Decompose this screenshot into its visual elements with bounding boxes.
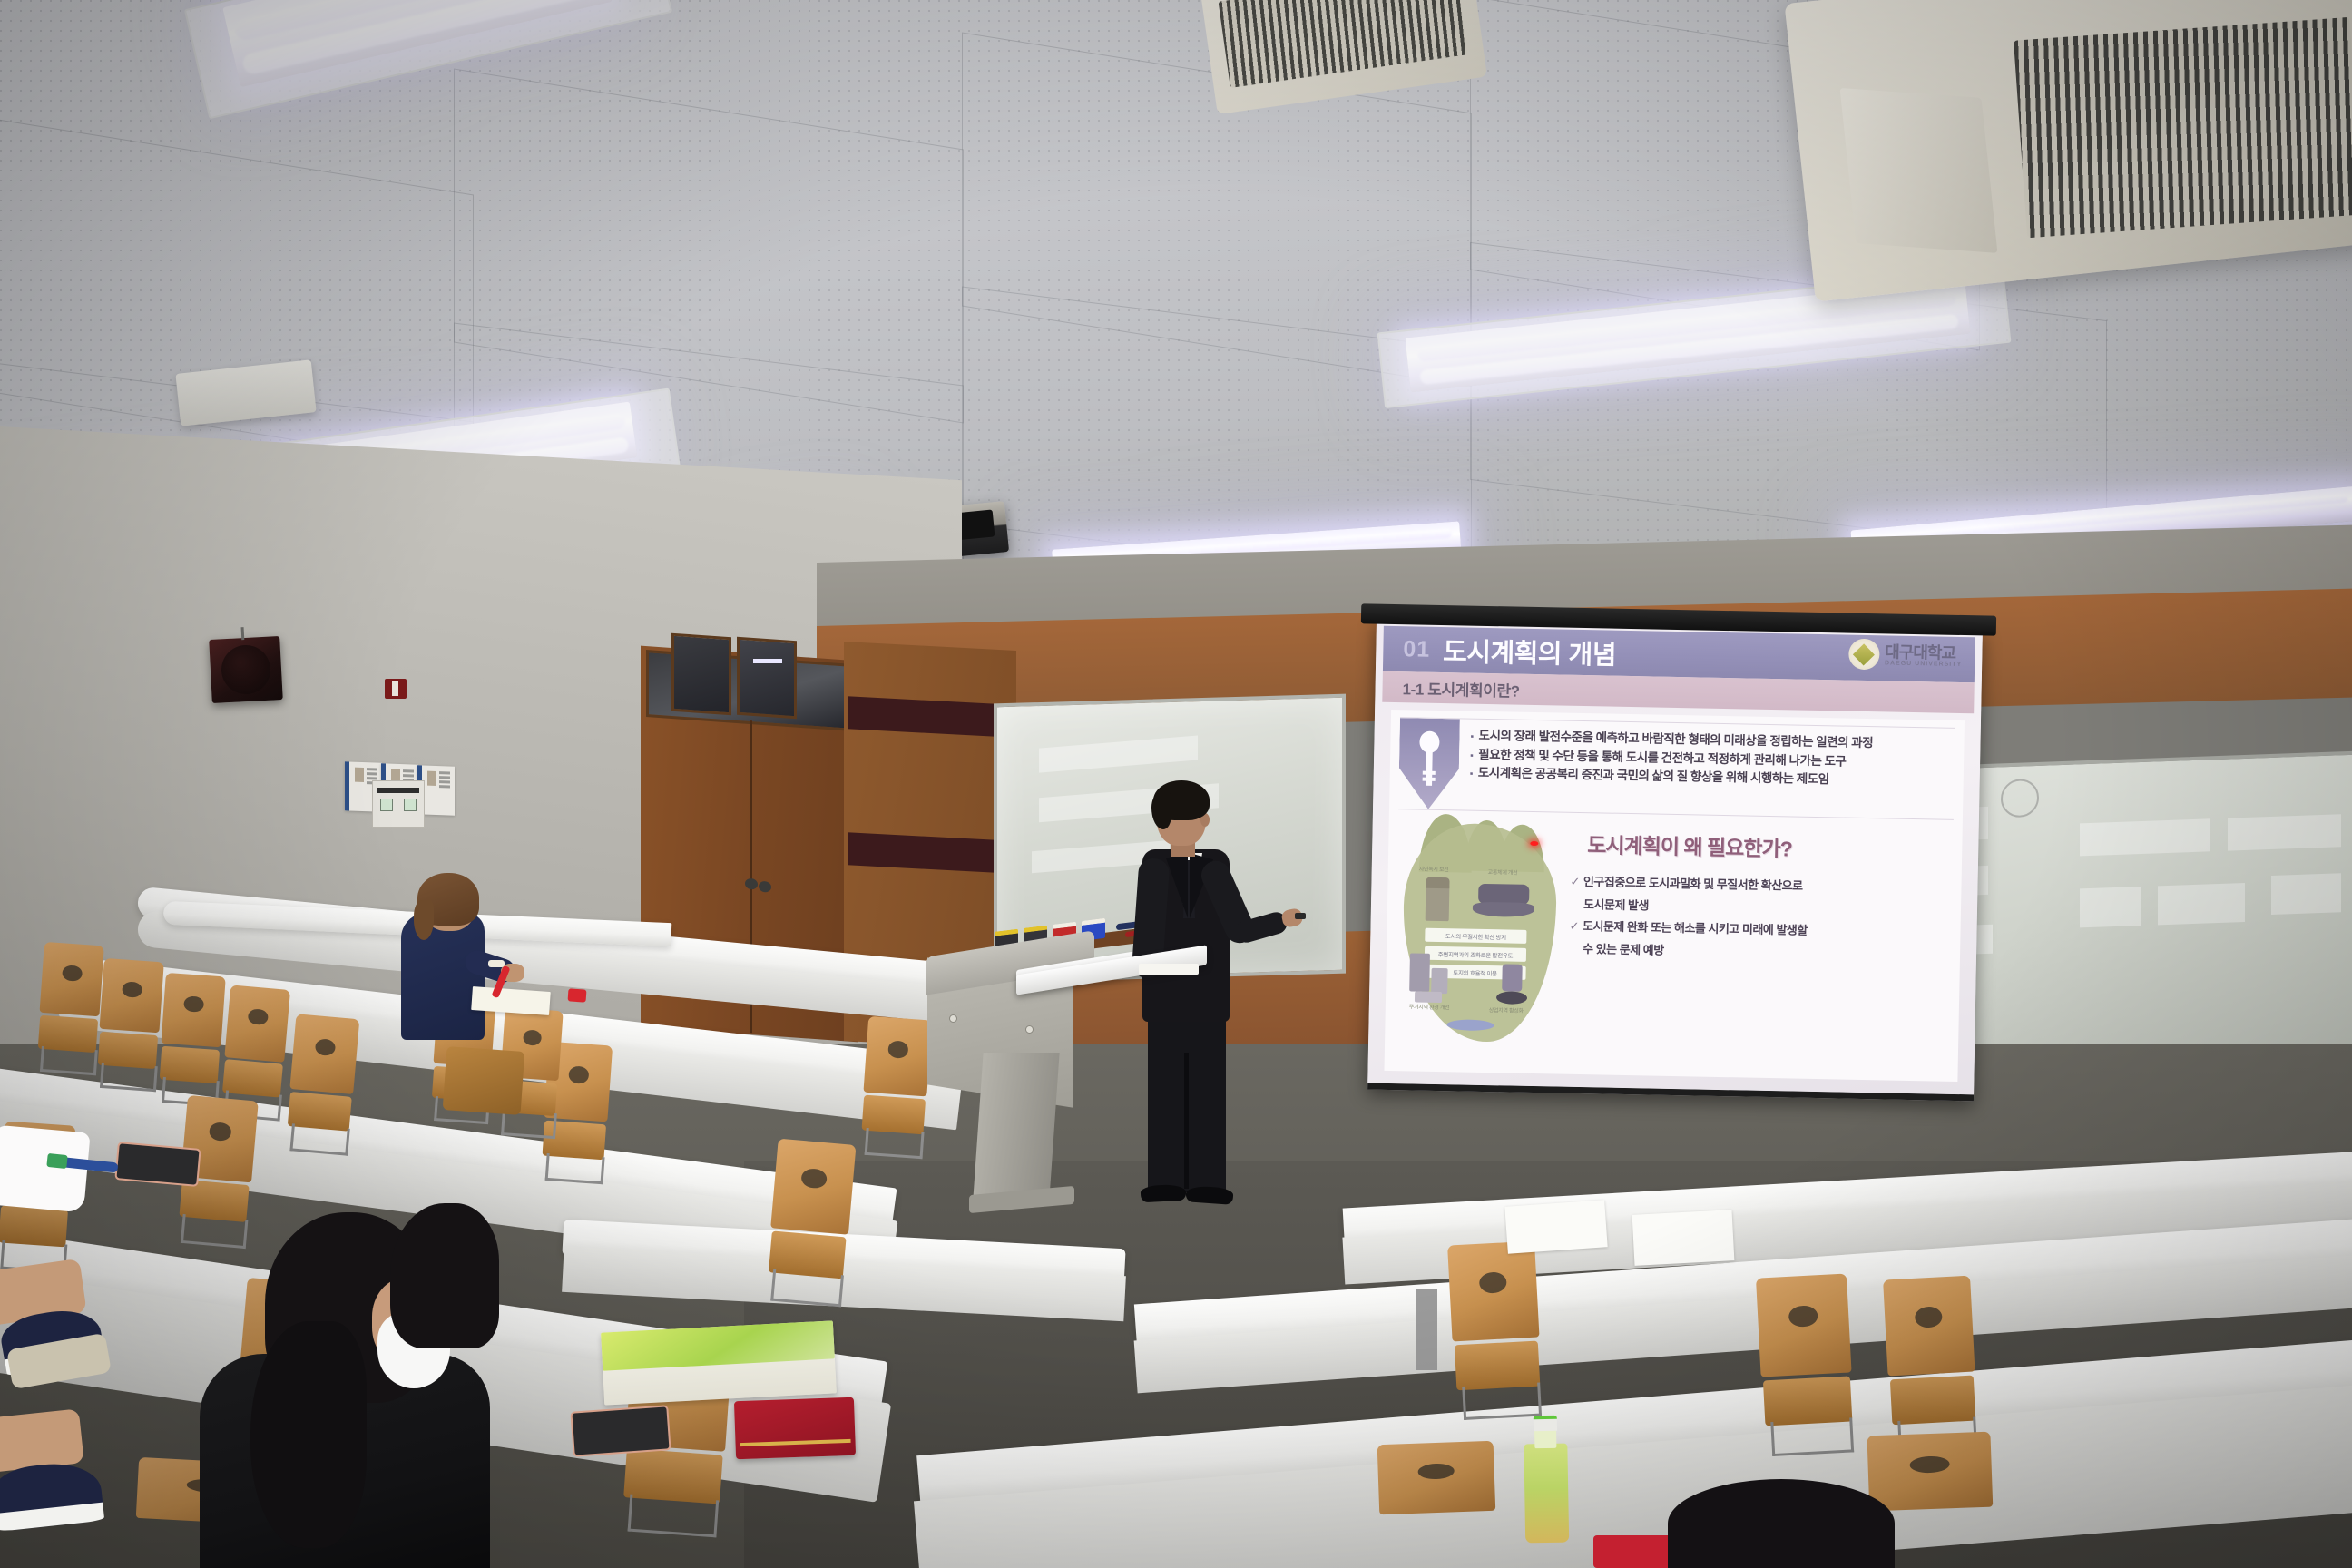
chair[interactable] xyxy=(1756,1274,1856,1455)
cloth-pouch xyxy=(0,1125,91,1213)
leg xyxy=(0,1408,84,1473)
sneaker xyxy=(0,1459,104,1532)
presenter xyxy=(1130,780,1311,1216)
student-foreground xyxy=(163,1176,544,1568)
student-back-row xyxy=(381,877,508,1040)
logo-text-kr: 대구대학교 xyxy=(1885,643,1963,661)
lecture-hall-photo: 01 도시계획의 개념 대구대학교 DAEGU UNIVERSITY 1-1 도… xyxy=(0,0,2352,1568)
shoe xyxy=(1185,1185,1233,1205)
chair[interactable] xyxy=(35,942,104,1073)
highlighter[interactable] xyxy=(46,1153,67,1169)
transom-window xyxy=(671,633,731,716)
hoodie xyxy=(401,913,485,1040)
map-label: 도시의 무질서한 확산 방지 xyxy=(1425,928,1526,944)
logo-diamond-icon xyxy=(1848,639,1880,671)
wall-clock-reflection xyxy=(2001,779,2039,818)
projection-screen: 01 도시계획의 개념 대구대학교 DAEGU UNIVERSITY 1-1 도… xyxy=(1367,619,1983,1102)
check-icon: ✓ xyxy=(1570,875,1580,888)
building-icon xyxy=(1415,992,1442,1004)
university-logo: 대구대학교 DAEGU UNIVERSITY xyxy=(1848,639,1963,671)
building-icon xyxy=(1502,964,1523,991)
map-caption: 상업지역 활성화 xyxy=(1489,1005,1524,1014)
student-bottom-right xyxy=(1668,1479,1895,1568)
building-icon xyxy=(1431,968,1448,994)
wallet[interactable] xyxy=(734,1397,856,1460)
pond-icon xyxy=(1496,991,1527,1004)
drink-bottle[interactable] xyxy=(1524,1416,1569,1543)
pen-cap xyxy=(568,988,587,1002)
presentation-slide: 01 도시계획의 개념 대구대학교 DAEGU UNIVERSITY 1-1 도… xyxy=(1367,619,1983,1095)
logo-text-en: DAEGU UNIVERSITY xyxy=(1885,660,1962,668)
building-icon xyxy=(1426,885,1450,921)
textbook[interactable] xyxy=(601,1320,837,1405)
slide-lower-section: 자연녹지 보전 교통체계 개선 도시의 무질서한 확산 방지 주변지역과의 조화… xyxy=(1394,817,1954,1078)
chair[interactable] xyxy=(1377,1441,1498,1568)
chair[interactable] xyxy=(285,1014,360,1153)
chair[interactable] xyxy=(1883,1276,1979,1453)
handbag[interactable] xyxy=(443,1046,525,1115)
chair[interactable] xyxy=(157,973,226,1103)
wall-speaker xyxy=(209,636,283,703)
question-title: 도시계획이 왜 필요한가? xyxy=(1587,828,1954,866)
slide-subtitle: 1-1 도시계획이란? xyxy=(1402,676,1520,701)
presentation-remote[interactable] xyxy=(1295,913,1306,919)
shoe xyxy=(1141,1184,1187,1203)
laser-pointer-dot xyxy=(1530,841,1538,846)
definition-box: 도시의 장래 발전수준을 예측하고 바람직한 형태의 미래상을 정립하는 일련의… xyxy=(1398,717,1955,820)
chair[interactable] xyxy=(1447,1241,1543,1418)
question-section: 도시계획이 왜 필요한가? ✓인구집중으로 도시과밀화 및 무질서한 확산으로 … xyxy=(1562,820,1954,1078)
light-switch-panel[interactable] xyxy=(372,780,425,828)
handout-paper[interactable] xyxy=(1632,1210,1735,1266)
handout-paper[interactable] xyxy=(1504,1200,1607,1254)
map-label: 주변지역과의 조화로운 발전유도 xyxy=(1425,946,1526,962)
chair-leg xyxy=(1416,1289,1437,1370)
hair-side xyxy=(414,900,434,940)
key-icon xyxy=(1398,718,1460,809)
transom-window xyxy=(737,637,797,720)
building-icon xyxy=(1409,953,1430,991)
window-light-reflection xyxy=(753,659,782,663)
fire-alarm-icon xyxy=(385,679,407,699)
check-icon: ✓ xyxy=(1569,919,1579,933)
city-illustration: 자연녹지 보전 교통체계 개선 도시의 무질서한 확산 방지 주변지역과의 조화… xyxy=(1394,817,1566,1071)
slide-number: 01 xyxy=(1403,636,1430,663)
ponytail xyxy=(250,1321,367,1548)
slide-body: 도시의 장래 발전수준을 예측하고 바람직한 형태의 미래상을 정립하는 일련의… xyxy=(1384,710,1965,1082)
map-caption: 자연녹지 보전 xyxy=(1419,865,1449,874)
chair[interactable] xyxy=(95,958,164,1089)
papers-on-lectern xyxy=(1139,964,1199,975)
chair[interactable] xyxy=(764,1139,856,1305)
map-caption: 교통체계 개선 xyxy=(1488,867,1518,877)
building-roof xyxy=(1426,877,1449,888)
map-caption: 주거지역 환경 개선 xyxy=(1409,1002,1450,1011)
chair[interactable] xyxy=(859,1016,932,1157)
slide-title: 도시계획의 개념 xyxy=(1443,631,1617,672)
smartphone[interactable] xyxy=(570,1405,671,1456)
hair-front xyxy=(390,1203,499,1348)
